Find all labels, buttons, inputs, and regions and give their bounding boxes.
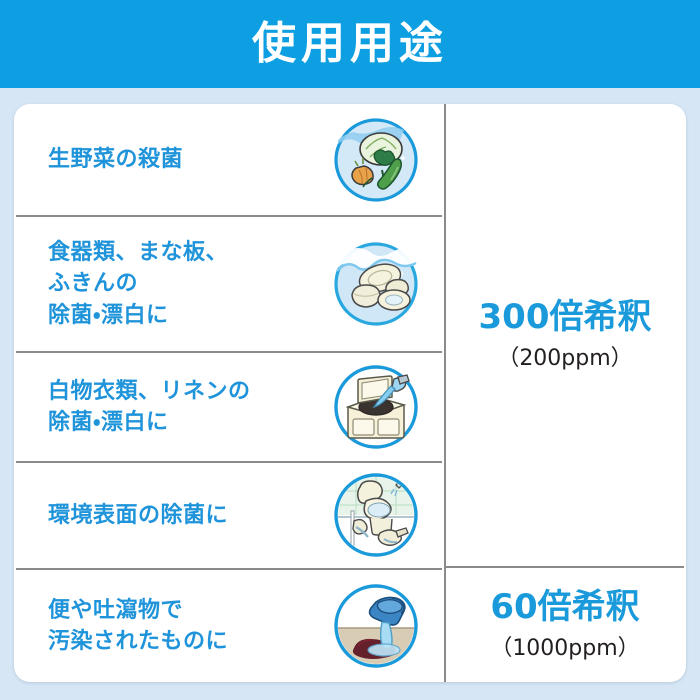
dilution-ppm: （1000ppm） [490,630,639,662]
usage-chart-page: 使用用途 生野菜の殺菌 [0,0,700,700]
dilution-column: 300倍希釈 （200ppm） 60倍希釈 （1000ppm） [444,104,686,682]
usage-label: 白物衣類、リネンの 除菌・漂白に [48,376,322,438]
table-row: 食器類、まな板、 ふきんの 除菌・漂白に [14,217,444,350]
fresh-vegetables-icon [332,116,420,204]
header-banner: 使用用途 [0,0,700,88]
dishes-in-water-icon [332,240,420,328]
usage-table-card: 生野菜の殺菌 [14,104,686,682]
usage-label: 食器類、まな板、 ふきんの 除菌・漂白に [48,237,322,331]
usage-rows-column: 生野菜の殺菌 [14,104,444,682]
dilution-block-60x: 60倍希釈 （1000ppm） [444,568,686,682]
usage-label: 環境表面の除菌に [48,500,322,531]
page-title: 使用用途 [252,22,448,66]
toilet-surface-icon [332,471,420,559]
usage-label: 便や吐瀉物で 汚染されたものに [48,595,322,657]
washing-machine-icon [332,363,420,451]
dilution-ppm: （200ppm） [497,340,632,372]
usage-label: 生野菜の殺菌 [48,144,322,175]
table-row: 環境表面の除菌に [14,463,444,568]
table-row: 生野菜の殺菌 [14,104,444,215]
dilution-block-300x: 300倍希釈 （200ppm） [444,104,686,566]
dilution-ratio: 60倍希釈 [490,589,639,626]
dilution-ratio: 300倍希釈 [479,299,652,336]
table-row: 便や吐瀉物で 汚染されたものに [14,570,444,682]
table-row: 白物衣類、リネンの 除菌・漂白に [14,353,444,462]
bucket-pour-stain-icon [332,582,420,670]
